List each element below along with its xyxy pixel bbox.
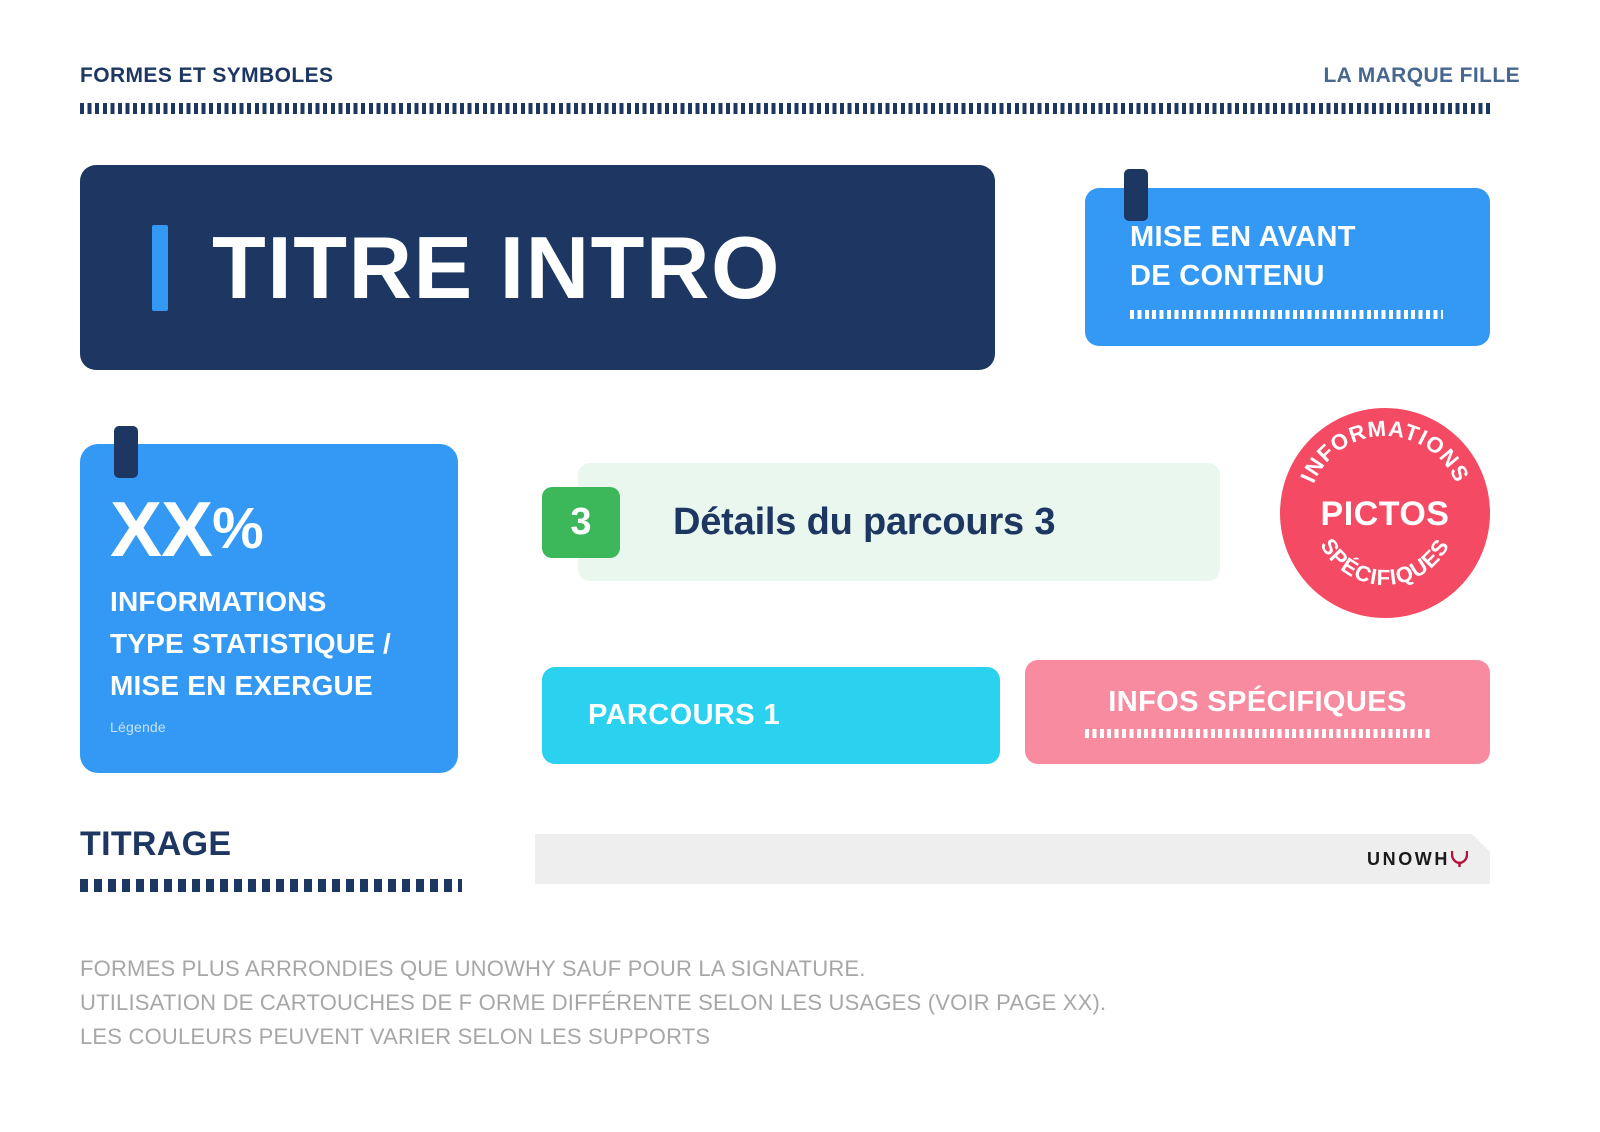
statistic-line-2: TYPE STATISTIQUE / [110, 623, 458, 665]
mise-en-avant-title: MISE EN AVANT DE CONTENU [1130, 218, 1490, 296]
mise-en-avant-card: MISE EN AVANT DE CONTENU [1085, 188, 1490, 346]
signature-bar: UNOWH [535, 834, 1490, 884]
parcours-1-label: PARCOURS 1 [588, 699, 780, 732]
header-title-left: FORMES ET SYMBOLES [80, 65, 333, 86]
clip-tab-icon [114, 426, 138, 478]
statistic-description: INFORMATIONS TYPE STATISTIQUE / MISE EN … [110, 581, 458, 707]
statistic-line-3: MISE EN EXERGUE [110, 665, 458, 707]
mise-en-avant-line-2: DE CONTENU [1130, 257, 1490, 296]
infos-specifiques-card: INFOS SPÉCIFIQUES [1025, 660, 1490, 764]
title-intro-card: TITRE INTRO [80, 165, 995, 370]
title-accent-bar [152, 225, 168, 311]
unowhy-logo: UNOWH [1367, 850, 1468, 868]
titrage-label: TITRAGE [80, 827, 470, 861]
infos-specifiques-dotted-rule [1085, 729, 1430, 738]
statistic-line-1: INFORMATIONS [110, 581, 458, 623]
footer-note-line-1: FORMES PLUS ARRRONDIES QUE UNOWHY SAUF P… [80, 952, 1380, 986]
titrage-block: TITRAGE [80, 827, 470, 892]
mise-en-avant-line-1: MISE EN AVANT [1130, 218, 1490, 257]
statistic-number: XX [110, 485, 212, 573]
page-header: FORMES ET SYMBOLES LA MARQUE FILLE [80, 52, 1520, 114]
parcours-detail-row: 3 Détails du parcours 3 [542, 463, 1220, 581]
statistic-legend: Légende [110, 719, 458, 735]
unowhy-y-icon [1451, 850, 1468, 868]
statistic-card: XX% INFORMATIONS TYPE STATISTIQUE / MISE… [80, 444, 458, 773]
unowhy-logo-word: UNOWH [1367, 850, 1450, 868]
header-row: FORMES ET SYMBOLES LA MARQUE FILLE [80, 52, 1520, 86]
footer-notes: FORMES PLUS ARRRONDIES QUE UNOWHY SAUF P… [80, 952, 1380, 1054]
footer-note-line-3: LES COULEURS PEUVENT VARIER SELON LES SU… [80, 1020, 1380, 1054]
mise-en-avant-dotted-rule [1130, 310, 1443, 319]
parcours-detail-label: Détails du parcours 3 [673, 463, 1055, 581]
pictos-badge: INFORMATIONS PICTOS SPÉCIFIQUES [1280, 408, 1490, 618]
clip-tab-icon [1124, 169, 1148, 221]
titrage-dotted-rule [80, 879, 462, 892]
footer-note-line-2: UTILISATION DE CARTOUCHES DE F ORME DIFF… [80, 986, 1380, 1020]
statistic-value: XX% [110, 492, 458, 567]
parcours-number-badge: 3 [542, 487, 620, 558]
infos-specifiques-label: INFOS SPÉCIFIQUES [1108, 686, 1406, 719]
header-title-right: LA MARQUE FILLE [1323, 65, 1520, 86]
title-intro-text: TITRE INTRO [212, 224, 781, 312]
header-dotted-rule [80, 103, 1492, 114]
parcours-1-card: PARCOURS 1 [542, 667, 1000, 764]
statistic-unit: % [212, 496, 263, 561]
pictos-center-text: PICTOS [1321, 495, 1450, 533]
